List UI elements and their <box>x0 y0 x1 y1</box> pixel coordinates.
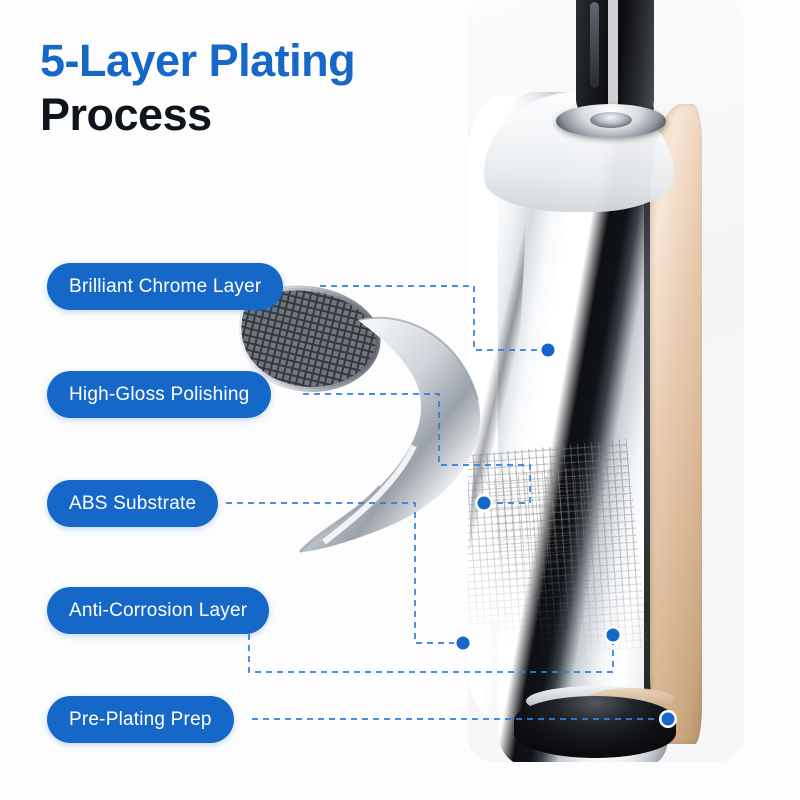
layer-label-4-text: Anti-Corrosion Layer <box>69 600 247 622</box>
marker-1[interactable] <box>539 341 557 359</box>
layer-label-1-text: Brilliant Chrome Layer <box>69 276 261 298</box>
layer-label-2-text: High-Gloss Polishing <box>69 384 249 406</box>
marker-3[interactable] <box>454 634 472 652</box>
layer-label-abs-substrate[interactable]: ABS Substrate <box>47 480 218 527</box>
marker-5[interactable] <box>659 710 677 728</box>
marker-4[interactable] <box>604 626 622 644</box>
infographic-canvas: 5-Layer Plating Process Br <box>0 0 800 800</box>
layer-label-high-gloss-polishing[interactable]: High-Gloss Polishing <box>47 371 271 418</box>
marker-1-dot <box>542 344 555 357</box>
layer-label-pre-plating-prep[interactable]: Pre-Plating Prep <box>47 696 234 743</box>
layer-label-brilliant-chrome-layer[interactable]: Brilliant Chrome Layer <box>47 263 283 310</box>
layer-label-anti-corrosion-layer[interactable]: Anti-Corrosion Layer <box>47 587 269 634</box>
leader-line-2 <box>303 394 530 503</box>
marker-3-dot <box>457 637 470 650</box>
marker-5-dot <box>662 713 675 726</box>
marker-4-dot <box>607 629 620 642</box>
marker-2[interactable] <box>475 494 493 512</box>
layer-label-3-text: ABS Substrate <box>69 493 196 515</box>
leader-line-4 <box>249 634 613 672</box>
layer-label-5-text: Pre-Plating Prep <box>69 709 212 731</box>
leader-line-1 <box>320 286 540 350</box>
marker-2-dot <box>478 497 491 510</box>
